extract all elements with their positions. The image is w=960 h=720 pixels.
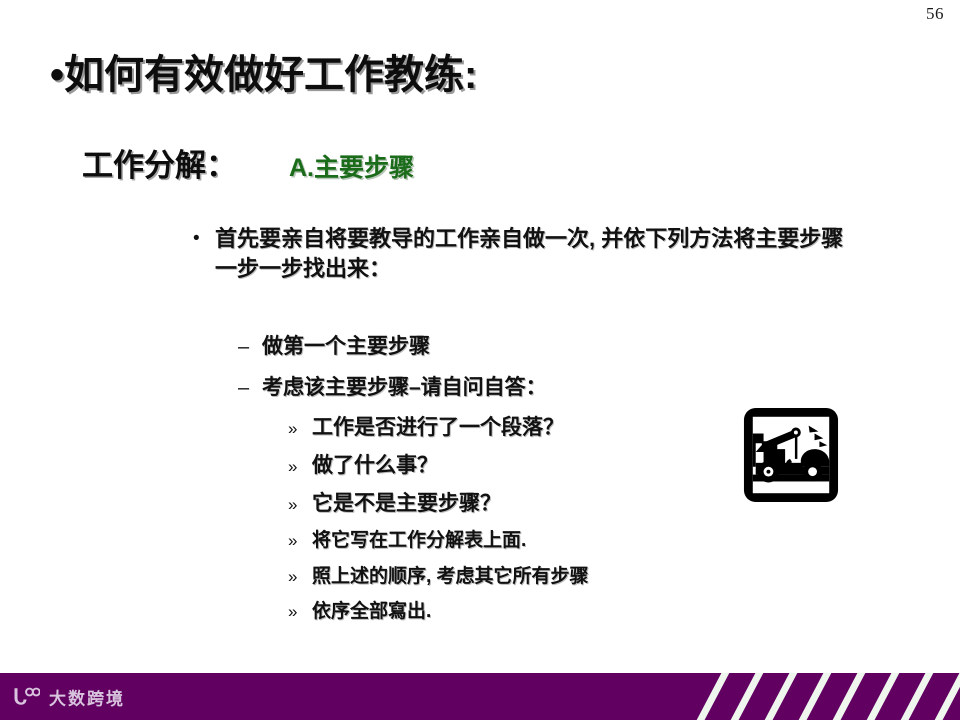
bullet-level3: » 将它写在工作分解表上面. (288, 525, 526, 552)
bullet-text: 做了什么事？ (312, 449, 438, 479)
tow-truck-icon (742, 406, 840, 504)
bullet-level2: – 做第一个主要步骤 (238, 330, 430, 360)
bullet-level3: » 它是不是主要步骤？ (288, 487, 501, 517)
bullet-text: 考虑该主要步骤–请自问自答： (262, 371, 547, 401)
page-number: 56 (926, 4, 944, 24)
bullet-text: 依序全部寫出. (312, 596, 431, 623)
bullet-text: 工作是否进行了一个段落？ (312, 411, 564, 441)
slide-title: •如何有效做好工作教练: (50, 42, 477, 100)
slide: 56 •如何有效做好工作教练: 工作分解： A.主要步骤 • 首先要亲自将要教导… (0, 0, 960, 720)
bullet-level3: » 照上述的顺序, 考虑其它所有步骤 (288, 561, 589, 588)
bullet-text: 做第一个主要步骤 (262, 330, 430, 360)
bullet-level2: – 考虑该主要步骤–请自问自答： (238, 371, 547, 401)
subtitle-accent: A.主要步骤 (289, 148, 414, 184)
ic-infinity-logo-icon (10, 686, 40, 708)
footer-stripes (690, 673, 960, 720)
subtitle-main: 工作分解： (82, 140, 237, 185)
bullet-level3: » 工作是否进行了一个段落？ (288, 411, 564, 441)
bullet-marker: » (288, 567, 312, 587)
brand-logo: 大数跨境 (10, 684, 125, 709)
bullet-marker: • (193, 224, 215, 254)
bullet-marker: – (238, 336, 262, 359)
bullet-marker: » (288, 531, 312, 551)
bullet-level3: » 依序全部寫出. (288, 596, 431, 623)
subtitle-row: 工作分解： A.主要步骤 (82, 140, 414, 185)
footer-bar: 大数跨境 (0, 673, 960, 720)
bullet-marker: » (288, 495, 312, 515)
bullet-text: 照上述的顺序, 考虑其它所有步骤 (312, 561, 589, 588)
bullet-level3: » 做了什么事？ (288, 449, 438, 479)
bullet-level1: • 首先要亲自将要教导的工作亲自做一次, 并依下列方法将主要步骤一步一步找出来： (193, 224, 863, 284)
brand-name: 大数跨境 (49, 684, 125, 709)
bullet-marker: » (288, 457, 312, 477)
bullet-text: 首先要亲自将要教导的工作亲自做一次, 并依下列方法将主要步骤一步一步找出来： (215, 224, 863, 284)
bullet-text: 它是不是主要步骤？ (312, 487, 501, 517)
bullet-marker: » (288, 419, 312, 439)
bullet-text: 将它写在工作分解表上面. (312, 525, 526, 552)
bullet-marker: » (288, 602, 312, 622)
bullet-marker: – (238, 377, 262, 400)
